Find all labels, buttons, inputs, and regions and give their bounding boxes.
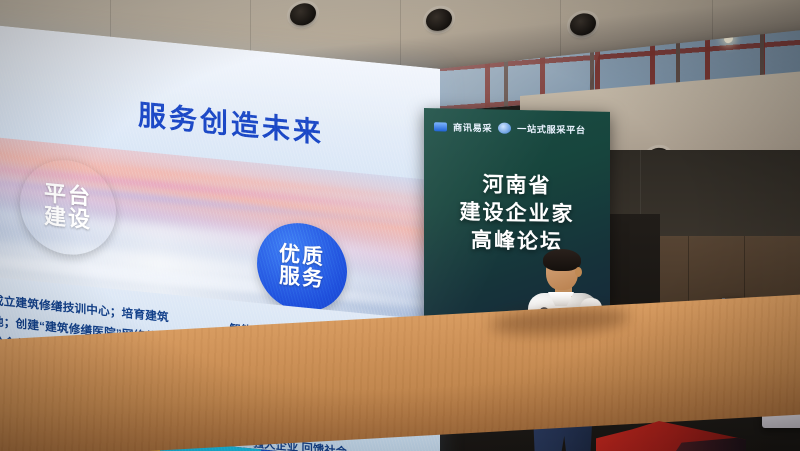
banner-title: 河南省 建设企业家 高峰论坛	[424, 170, 610, 258]
banner-title-line-2: 建设企业家	[424, 198, 610, 230]
partner-mark-icon	[498, 122, 511, 133]
banner-title-line-1: 河南省	[424, 170, 610, 202]
banner-logo-primary: 商讯易采	[453, 120, 492, 135]
screenshot-root: 品质 服务创造未来 平台 建设 优质 服务 建筑修缮专家委员会；成立建筑修缮技训…	[0, 0, 800, 451]
slide-bubble-service-line2: 服务	[279, 265, 325, 291]
slide-bubble-platform-line2: 建设	[44, 205, 92, 233]
banner-logo-secondary: 一站式服采平台	[517, 121, 586, 136]
brand-mark-icon	[434, 122, 447, 131]
air-vent-icon	[426, 7, 452, 32]
air-vent-icon	[290, 2, 316, 27]
slide-header-title: 服务创造未来	[138, 93, 324, 151]
